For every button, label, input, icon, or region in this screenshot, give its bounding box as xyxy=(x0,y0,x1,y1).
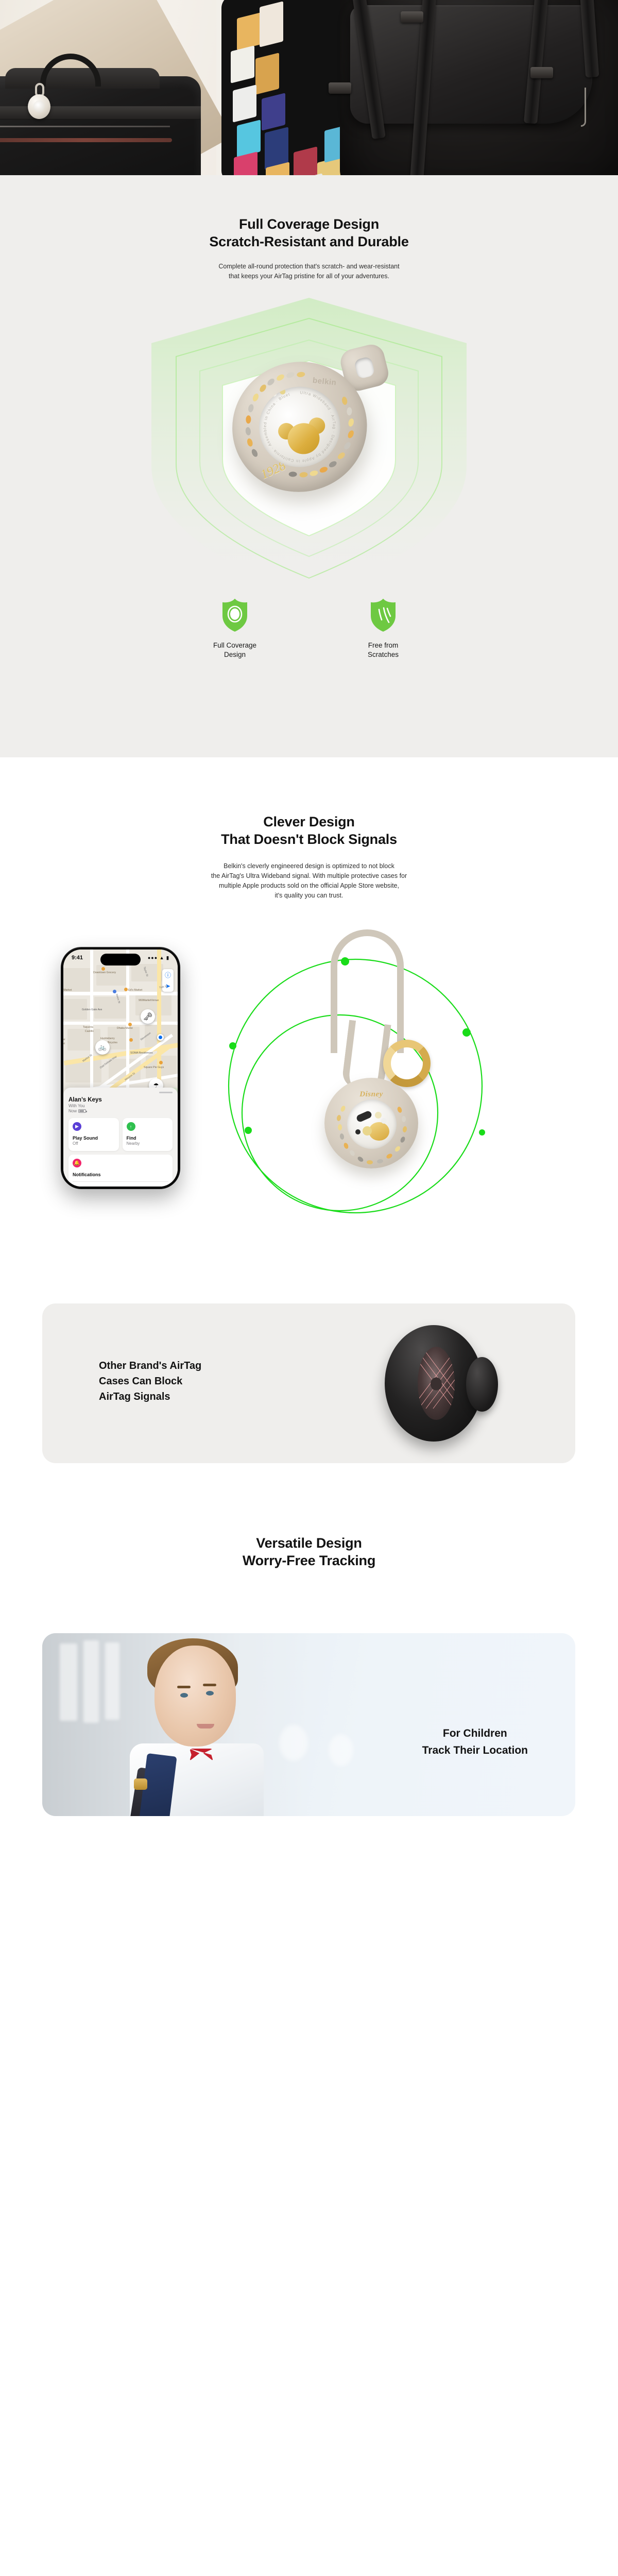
other-brand-card: Other Brand's AirTag Cases Can Block Air… xyxy=(42,1303,575,1463)
item-name: Alan’s Keys xyxy=(68,1097,173,1103)
child-brow-left xyxy=(177,1686,191,1688)
feature-label-line1: Full Coverage xyxy=(213,641,256,649)
full-coverage-heading-line1: Full Coverage Design xyxy=(239,216,379,232)
airtag-case-disney-product: Disney xyxy=(308,929,437,1172)
clever-subtext-line4: it's quality you can trust. xyxy=(274,892,343,899)
iphone-mockup: 9:41 ●●● ▲ ▮ ⓘ ➤ Downtown Grocery Taylor… xyxy=(61,947,180,1189)
airtag-case-body xyxy=(28,94,50,119)
battery-icon xyxy=(78,1109,86,1113)
shield-coverage-icon xyxy=(220,598,249,632)
duffel-zipper xyxy=(0,126,170,127)
versatile-heading-line2: Worry-Free Tracking xyxy=(243,1553,375,1568)
background-figure-2 xyxy=(329,1734,353,1766)
clever-design-subtext: Belkin's cleverly engineered design is o… xyxy=(139,861,479,901)
product-detail-page: Full Coverage Design Scratch-Resistant a… xyxy=(0,0,618,2576)
play-sound-icon: ▶ xyxy=(73,1122,81,1131)
apple-logo-silhouette xyxy=(431,1378,442,1391)
play-sound-button[interactable]: ▶ Play Sound Off xyxy=(68,1118,119,1151)
clever-design-heading: Clever Design That Doesn't Block Signals xyxy=(0,813,618,848)
map-info-icon[interactable]: ⓘ xyxy=(162,969,174,980)
feature-label-line1: Free from xyxy=(368,641,399,649)
for-children-caption: For Children Track Their Location xyxy=(422,1725,528,1759)
full-coverage-subtext: Complete all-round protection that's scr… xyxy=(0,262,618,281)
for-children-caption-line1: For Children xyxy=(443,1727,507,1739)
section-versatile-design: Versatile Design Worry-Free Tracking xyxy=(0,1479,618,1816)
child-mouth xyxy=(197,1724,214,1728)
find-label: Find xyxy=(127,1136,169,1141)
sheet-grabber[interactable] xyxy=(159,1092,173,1093)
for-children-caption-line2: Track Their Location xyxy=(422,1744,528,1756)
full-coverage-subtext-line1: Complete all-round protection that's scr… xyxy=(218,263,399,270)
full-coverage-subtext-line2: that keeps your AirTag pristine for all … xyxy=(229,273,389,280)
background-figure-1 xyxy=(279,1725,308,1761)
bell-icon: 🔔 xyxy=(73,1159,81,1167)
backpack-metal-hook xyxy=(581,88,586,127)
black-leather-backpack xyxy=(340,0,618,175)
background-window-1 xyxy=(60,1643,77,1721)
notifications-label: Notifications xyxy=(73,1172,168,1177)
other-brand-knob xyxy=(466,1357,498,1412)
other-brand-title: Other Brand's AirTag Cases Can Block Air… xyxy=(99,1358,201,1404)
clever-design-text-block: Clever Design That Doesn't Block Signals… xyxy=(0,757,618,901)
clever-heading-line2: That Doesn't Block Signals xyxy=(221,832,397,847)
feature-full-coverage-label: Full Coverage Design xyxy=(188,641,281,659)
map-pin-bicycle[interactable]: 🚲 xyxy=(95,1040,110,1055)
disney-airtag-case: Disney xyxy=(324,1078,418,1168)
item-timestamp: Now xyxy=(68,1109,77,1113)
disney-airtag-face xyxy=(347,1099,397,1149)
feature-scratch-label: Free from Scratches xyxy=(337,641,430,659)
clever-heading-line1: Clever Design xyxy=(263,814,354,829)
status-signal-icons: ●●● ▲ ▮ xyxy=(148,955,169,961)
versatile-text-block: Versatile Design Worry-Free Tracking xyxy=(0,1479,618,1569)
backpack-buckle-left xyxy=(329,82,351,94)
versatile-heading: Versatile Design Worry-Free Tracking xyxy=(0,1534,618,1569)
map-current-location-dot xyxy=(157,1034,164,1041)
backpack-buckle-mid xyxy=(530,67,553,78)
iphone-screen: 9:41 ●●● ▲ ▮ ⓘ ➤ Downtown Grocery Taylor… xyxy=(63,950,178,1187)
child-eye-left xyxy=(180,1693,188,1698)
other-brand-title-line1: Other Brand's AirTag xyxy=(99,1360,201,1371)
play-sound-status: Off xyxy=(73,1141,115,1146)
item-timestamp-row: Now xyxy=(68,1109,173,1113)
feature-label-line2: Design xyxy=(224,651,246,658)
backpack-buckle-top xyxy=(401,11,423,23)
status-time: 9:41 xyxy=(72,955,83,961)
full-coverage-heading-line2: Scratch-Resistant and Durable xyxy=(209,234,408,249)
other-brand-card-wrap: Other Brand's AirTag Cases Can Block Air… xyxy=(0,1303,618,1463)
map-pin-keys[interactable]: 🗝 xyxy=(141,1009,155,1024)
feature-full-coverage: Full Coverage Design xyxy=(188,598,281,659)
child-brow-right xyxy=(203,1684,216,1686)
clever-subtext-line3: multiple Apple products sold on the offi… xyxy=(219,882,399,889)
clever-subtext-line2: the AirTag's Ultra Wideband signal. With… xyxy=(211,872,407,879)
airtag-case-on-duffel xyxy=(28,90,50,122)
other-brand-title-line2: Cases Can Block xyxy=(99,1376,182,1387)
notifications-divider xyxy=(73,1181,168,1182)
feature-free-from-scratches: Free from Scratches xyxy=(337,598,430,659)
hero-image xyxy=(0,0,618,175)
background-window-3 xyxy=(105,1642,119,1720)
feature-label-line2: Scratches xyxy=(368,651,399,658)
action-button-row: ▶ Play Sound Off ↑ Find Nearby xyxy=(68,1118,173,1151)
play-sound-label: Play Sound xyxy=(73,1136,115,1141)
find-status: Nearby xyxy=(127,1141,169,1146)
full-coverage-text-block: Full Coverage Design Scratch-Resistant a… xyxy=(0,175,618,281)
section-clever-design: Clever Design That Doesn't Block Signals… xyxy=(0,757,618,1479)
clever-subtext-line1: Belkin's cleverly engineered design is o… xyxy=(224,862,394,870)
item-status: With You xyxy=(68,1104,173,1108)
dynamic-island xyxy=(100,954,141,965)
find-my-bottom-sheet[interactable]: Alan’s Keys With You Now ▶ Play Sound xyxy=(63,1088,178,1187)
background-window-2 xyxy=(83,1640,99,1723)
shield-scratch-icon xyxy=(369,598,398,632)
other-brand-case-product xyxy=(380,1325,498,1442)
versatile-heading-line1: Versatile Design xyxy=(256,1535,362,1551)
blocked-signal-window xyxy=(418,1347,455,1420)
child-face xyxy=(154,1646,236,1747)
other-brand-title-line3: AirTag Signals xyxy=(99,1391,170,1402)
child-eye-right xyxy=(206,1691,214,1696)
find-nearby-icon: ↑ xyxy=(127,1122,135,1131)
child-strap-buckle xyxy=(134,1778,147,1790)
duffel-accent-stripe xyxy=(0,138,172,142)
find-nearby-button[interactable]: ↑ Find Nearby xyxy=(123,1118,173,1151)
find-my-map[interactable]: 9:41 ●●● ▲ ▮ ⓘ ➤ Downtown Grocery Taylor… xyxy=(63,950,178,1187)
backpack-flap xyxy=(350,5,592,124)
section-full-coverage: Full Coverage Design Scratch-Resistant a… xyxy=(0,175,618,757)
full-coverage-heading: Full Coverage Design Scratch-Resistant a… xyxy=(0,215,618,250)
notifications-row[interactable]: 🔔 Notifications xyxy=(68,1155,173,1187)
for-children-card: For Children Track Their Location xyxy=(42,1633,575,1816)
shield-illustration-stage: belkin 1928 Ultra Wideband · AirTag · De… xyxy=(0,291,618,682)
feature-icon-row: Full Coverage Design Free from Scratches xyxy=(0,598,618,659)
